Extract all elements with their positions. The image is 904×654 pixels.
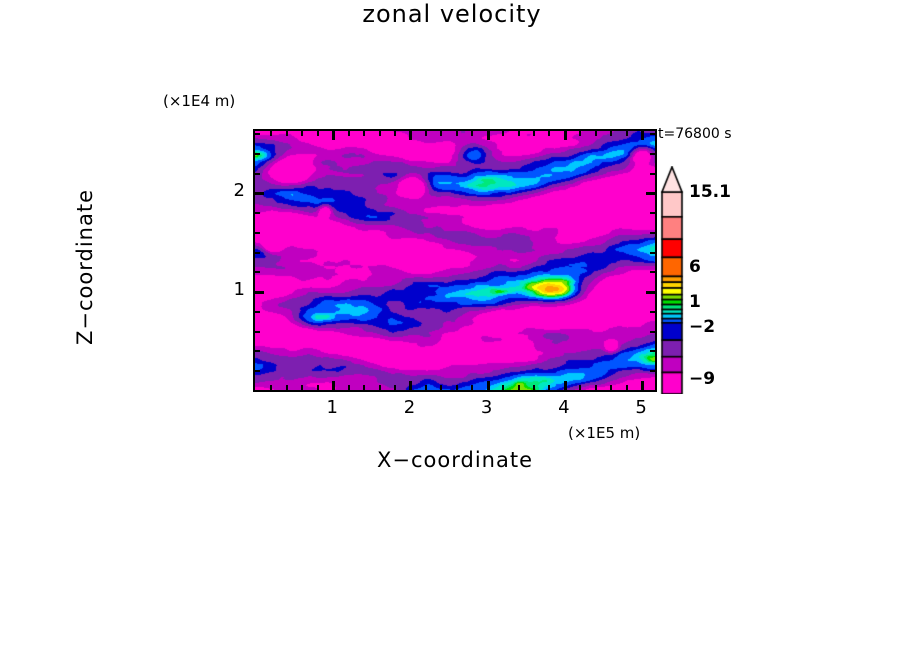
x-tick-label: 3 <box>467 397 507 418</box>
y-tick-label: 2 <box>205 180 245 201</box>
x-axis-title: X−coordinate <box>253 448 657 472</box>
colorbar-tick-label: −2 <box>689 317 715 337</box>
y-axis-title: Z−coordinate <box>73 127 97 407</box>
x-tick-label: 1 <box>312 397 352 418</box>
x-tick-label: 2 <box>389 397 429 418</box>
colorbar-tick-label: 15.1 <box>689 182 731 202</box>
x-tick-label: 5 <box>621 397 661 418</box>
colorbar-canvas <box>660 166 684 394</box>
x-tick-label: 4 <box>544 397 584 418</box>
y-axis-units-label: (×1E4 m) <box>163 92 235 110</box>
colorbar <box>660 166 684 394</box>
colorbar-tick-label: −9 <box>689 369 715 389</box>
y-tick-label: 1 <box>205 279 245 300</box>
x-axis-units-label: (×1E5 m) <box>568 424 640 442</box>
colorbar-tick-label: 6 <box>689 257 701 277</box>
contour-field-canvas <box>255 131 655 390</box>
time-annotation: t=76800 s <box>658 126 732 142</box>
contour-plot-area <box>253 129 657 392</box>
colorbar-tick-label: 1 <box>689 292 701 312</box>
page-title: zonal velocity <box>0 0 904 28</box>
